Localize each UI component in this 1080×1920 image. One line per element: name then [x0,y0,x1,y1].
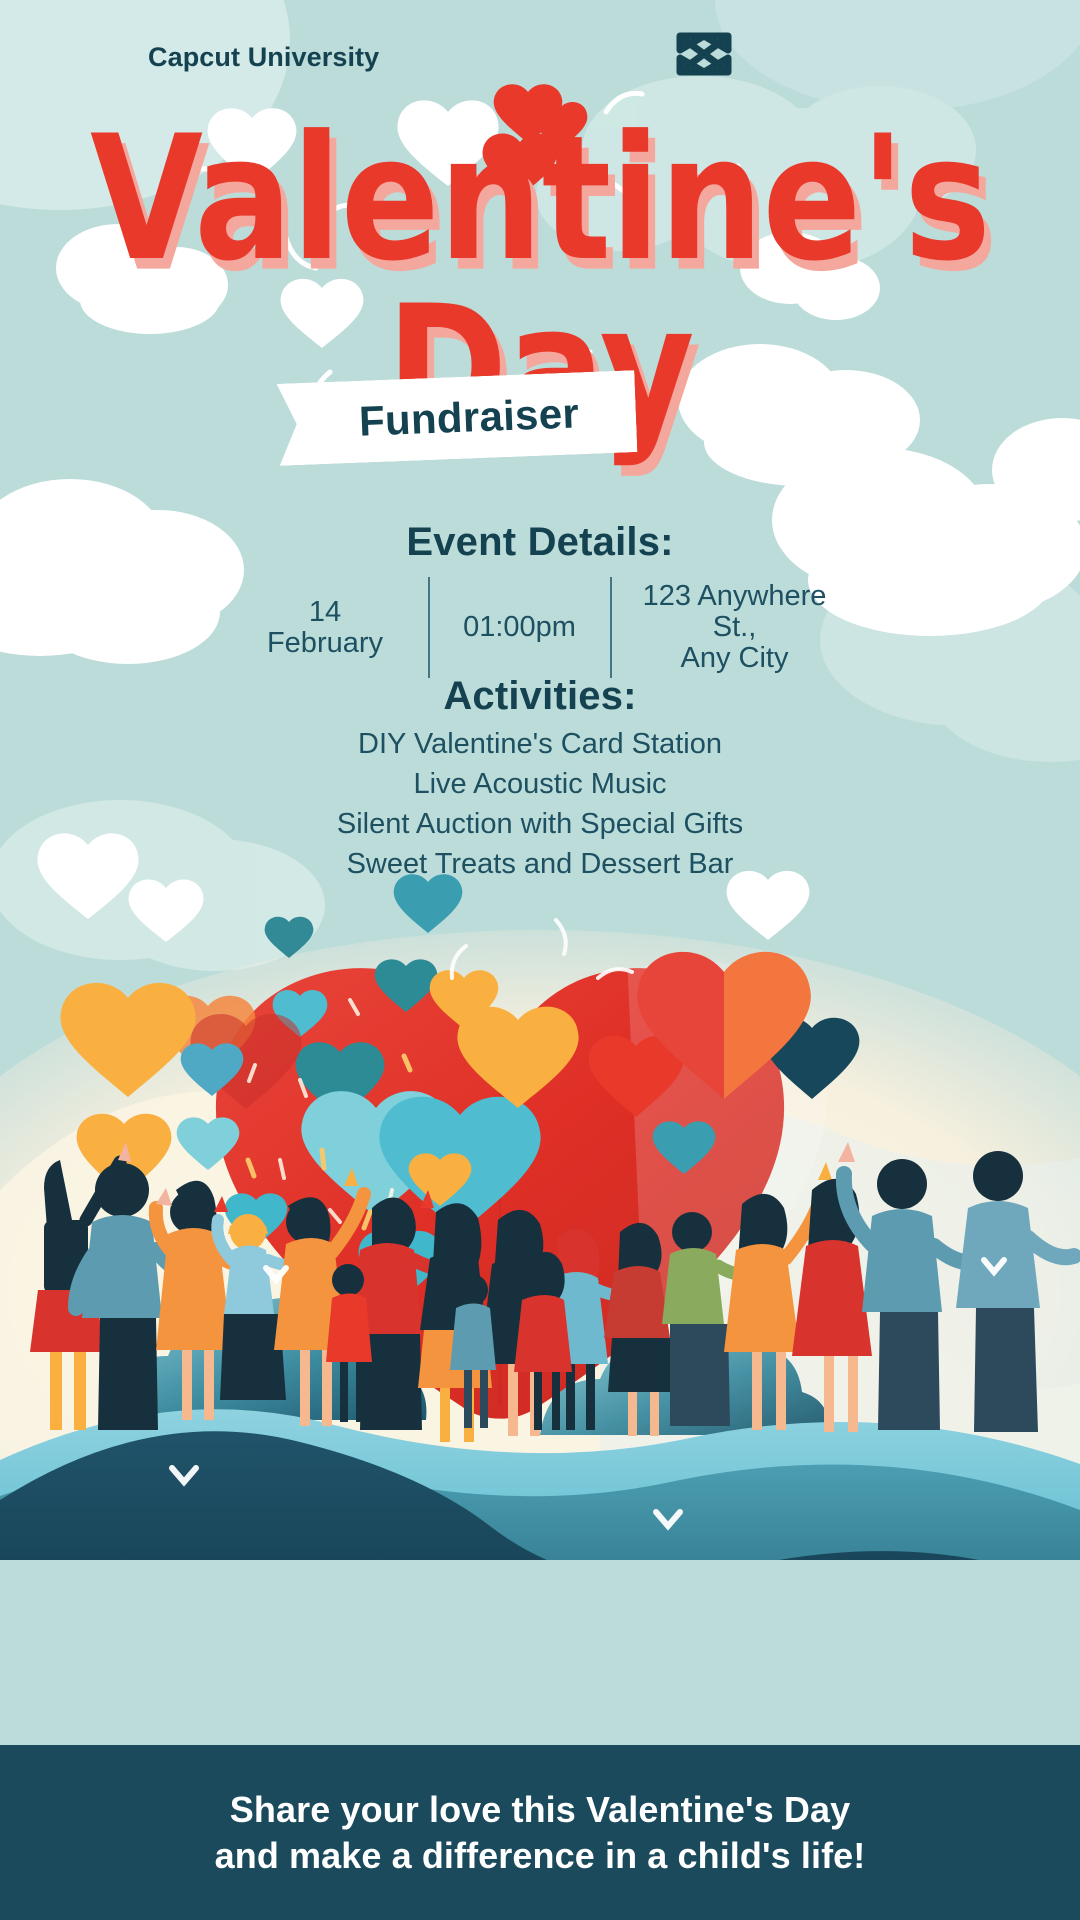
detail-divider-2 [610,577,612,678]
footer-message: Share your love this Valentine's Day and… [215,1787,866,1878]
event-date: 14 February [223,575,428,680]
poster-canvas: Capcut University Valentine's Day Fundra… [0,0,1080,1920]
ribbon-label: Fundraiser [277,370,638,466]
activity-item: Silent Auction with Special Gifts [0,804,1080,844]
activity-item: Live Acoustic Music [0,764,1080,804]
footer-line-2: and make a difference in a child's life! [215,1833,866,1878]
footer-line-1: Share your love this Valentine's Day [215,1787,866,1832]
brand-name: Capcut University [148,42,379,73]
title-line-valentines: Valentine's [0,120,1080,278]
event-venue: 123 Anywhere St., Any City [612,575,858,680]
capcut-bowtie-logo-icon[interactable] [676,30,732,78]
header-bar: Capcut University [0,0,1080,110]
detail-divider-1 [428,577,430,678]
venue-line-2: Any City [681,642,789,674]
fundraiser-ribbon: Fundraiser [277,370,638,466]
activities-list: DIY Valentine's Card Station Live Acoust… [0,724,1080,884]
venue-line-1: 123 Anywhere St., [643,580,827,643]
footer-band: Share your love this Valentine's Day and… [0,1745,1080,1920]
event-details-heading: Event Details: [0,520,1080,565]
activity-item: Sweet Treats and Dessert Bar [0,844,1080,884]
event-time: 01:00pm [430,575,610,680]
event-details-row: 14 February 01:00pm 123 Anywhere St., An… [0,575,1080,680]
activity-item: DIY Valentine's Card Station [0,724,1080,764]
activities-heading: Activities: [0,674,1080,719]
